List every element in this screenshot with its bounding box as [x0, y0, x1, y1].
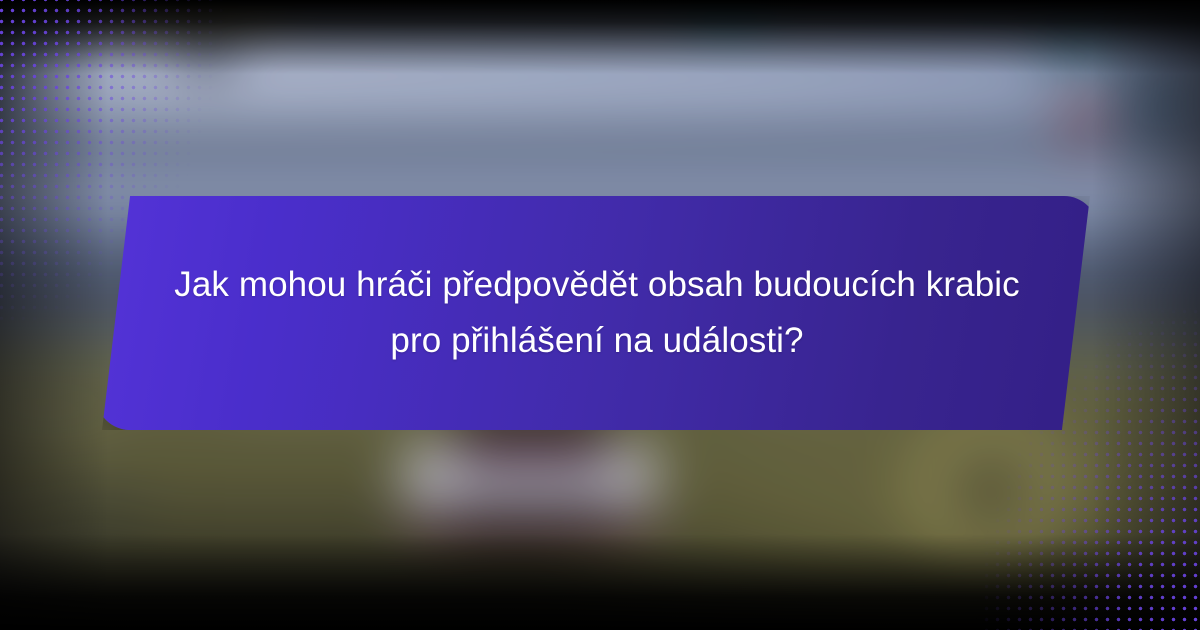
question-text: Jak mohou hráči předpovědět obsah budouc… — [96, 196, 1098, 430]
social-share-card: Jak mohou hráči předpovědět obsah budouc… — [0, 0, 1200, 630]
question-card-container: Jak mohou hráči předpovědět obsah budouc… — [0, 0, 1200, 630]
